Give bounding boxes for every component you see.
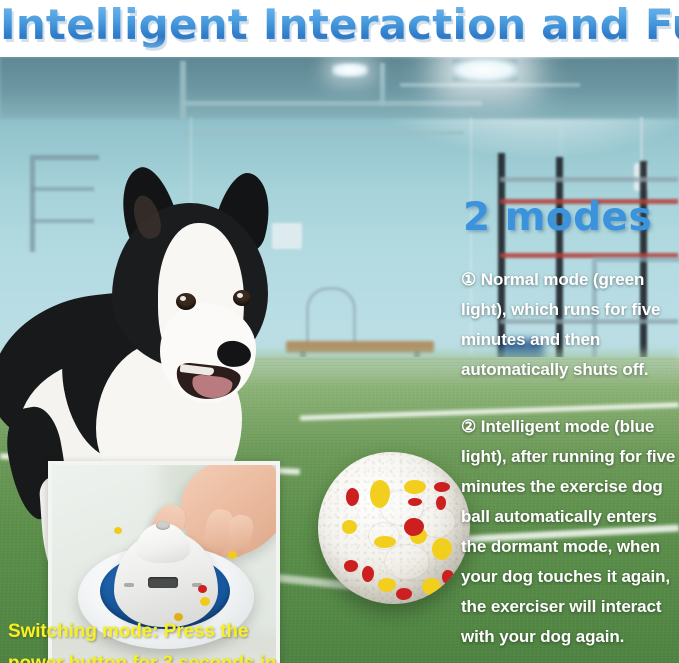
product-marketing-image: 2 modes ① Normal mode (green light), whi… [0, 0, 679, 663]
eye-highlight [237, 293, 243, 298]
hanging-cord [640, 117, 643, 167]
switching-mode-caption: Switching mode: Press the power button f… [8, 616, 308, 663]
dog-exercise-ball [318, 452, 470, 604]
ceiling-light-icon [452, 59, 518, 81]
ball-dimple [384, 544, 430, 580]
ceiling-pipe-horizontal [182, 101, 482, 106]
mode-description-normal: ① Normal mode (green light), which runs … [461, 265, 677, 385]
device-slot [124, 583, 134, 587]
inset-spot-yellow [200, 597, 210, 606]
ceiling-pipe-lower [184, 131, 464, 135]
mode-description-intelligent: ② Intelligent mode (blue light), after r… [461, 412, 677, 652]
page-title: Intelligent Interaction and Fun [0, 0, 679, 52]
ceiling-beam [400, 83, 580, 87]
ceiling-light-small-icon [332, 63, 368, 77]
title-band: Intelligent Interaction and Fun Intellig… [0, 0, 679, 57]
inset-spot-red [198, 585, 207, 593]
charging-port [148, 577, 178, 588]
eye-highlight [180, 296, 186, 301]
ceiling-pipe-vertical-2 [380, 63, 385, 105]
hero-photo: 2 modes ① Normal mode (green light), whi… [0, 57, 679, 663]
rack-bar-grey [500, 177, 678, 182]
power-button[interactable] [156, 521, 170, 530]
inset-spot-yellow [114, 527, 122, 534]
dog-eye-right [233, 290, 251, 306]
dog-eye-left [176, 293, 196, 310]
inset-spot-yellow [228, 551, 237, 559]
ceiling-pipe-vertical [180, 61, 186, 119]
modes-heading: 2 modes [463, 195, 652, 240]
